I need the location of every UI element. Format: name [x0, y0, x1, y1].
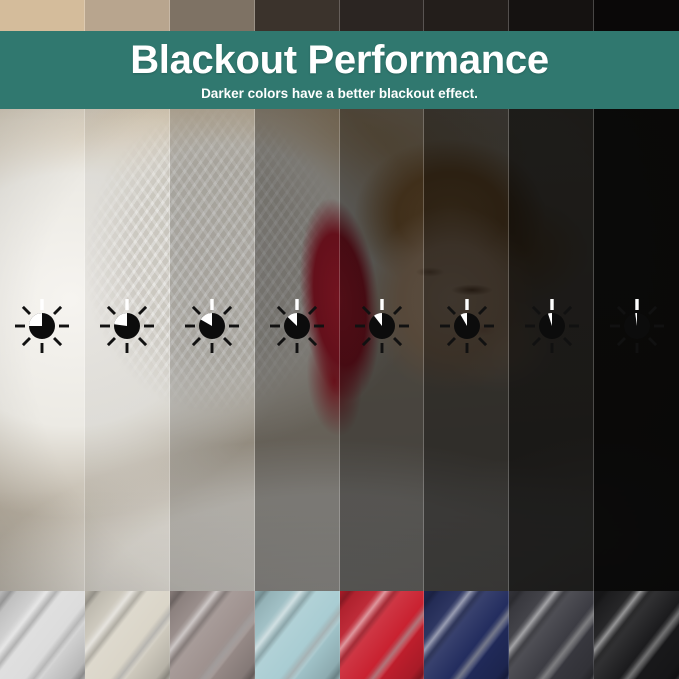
fabric-swatch-taupe-grey[interactable] [170, 591, 255, 679]
fabric-swatch-navy-blue[interactable] [424, 591, 509, 679]
fabric-swatch-white[interactable] [0, 591, 85, 679]
fabric-swatch-cream[interactable] [85, 591, 170, 679]
swatch-shading [509, 591, 594, 679]
headline-banner: Blackout Performance Darker colors have … [0, 31, 679, 109]
page-subtitle: Darker colors have a better blackout eff… [201, 86, 478, 101]
fabric-swatch-light-blue[interactable] [255, 591, 340, 679]
fabric-swatch-dark-grey[interactable] [509, 591, 594, 679]
swatch-shading [0, 591, 85, 679]
swatch-shading [170, 591, 255, 679]
fabric-swatch-black[interactable] [594, 591, 679, 679]
fabric-swatch-row [0, 591, 679, 679]
blackout-performance-infographic: Blackout Performance Darker colors have … [0, 0, 679, 679]
swatch-shading [340, 591, 425, 679]
swatch-shading [424, 591, 509, 679]
fabric-swatch-red[interactable] [340, 591, 425, 679]
page-title: Blackout Performance [130, 40, 549, 80]
swatch-shading [85, 591, 170, 679]
swatch-shading [594, 591, 679, 679]
swatch-shading [255, 591, 340, 679]
